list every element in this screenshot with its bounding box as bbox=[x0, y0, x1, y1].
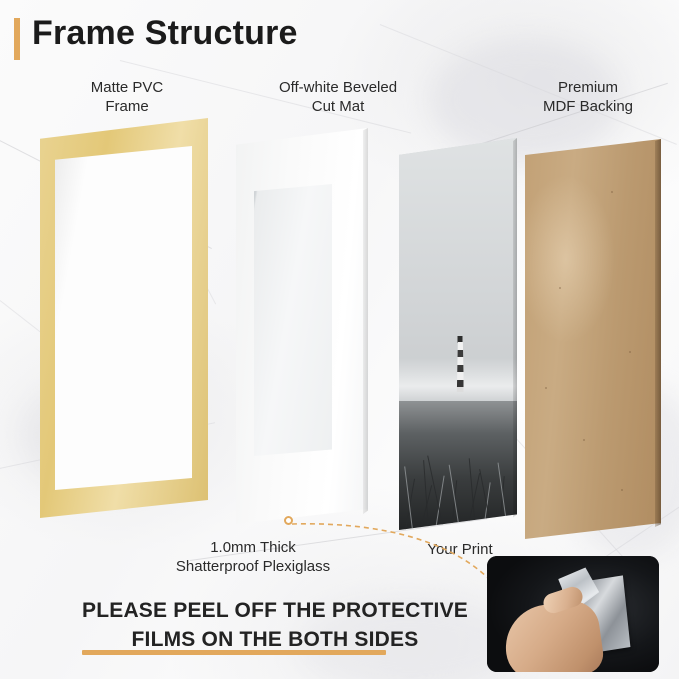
label-plexiglass: 1.0mm Thick Shatterproof Plexiglass bbox=[128, 538, 378, 576]
mdf-fleck bbox=[559, 287, 561, 289]
mdf-fleck bbox=[621, 489, 623, 491]
lighthouse-print-photo bbox=[399, 138, 517, 530]
mdf-backing-layer bbox=[525, 139, 661, 539]
mdf-backing-edge bbox=[655, 139, 661, 539]
pvc-frame-layer bbox=[40, 118, 208, 518]
mdf-fleck bbox=[629, 351, 631, 353]
peel-film-banner: PLEASE PEEL OFF THE PROTECTIVE FILMS ON … bbox=[60, 596, 490, 654]
cut-mat-layer bbox=[236, 128, 368, 524]
title-accent-bar bbox=[14, 18, 20, 60]
hand-peeling-film-inset bbox=[487, 556, 659, 672]
mdf-fleck bbox=[545, 387, 547, 389]
print-edge bbox=[513, 138, 517, 530]
label-mat: Off-white Beveled Cut Mat bbox=[248, 78, 428, 116]
cut-mat-edge bbox=[363, 128, 368, 524]
print-layer bbox=[399, 138, 517, 530]
page-title: Frame Structure bbox=[32, 14, 298, 53]
lighthouse-tower bbox=[457, 342, 464, 392]
banner-underline bbox=[82, 650, 386, 655]
label-backing: Premium MDF Backing bbox=[508, 78, 668, 116]
print-dunes bbox=[399, 401, 517, 530]
mdf-fleck bbox=[611, 191, 613, 193]
cut-mat-bevel bbox=[254, 184, 332, 456]
plexiglass-callout-dot bbox=[284, 516, 293, 525]
frame-opening-shading bbox=[55, 146, 192, 490]
pvc-frame-opening bbox=[55, 146, 192, 490]
product-infographic: Frame Structure Matte PVC Frame Off-whit… bbox=[0, 0, 679, 679]
mdf-backing-board bbox=[525, 139, 661, 539]
lighthouse-icon bbox=[455, 334, 466, 396]
label-frame: Matte PVC Frame bbox=[52, 78, 202, 116]
mdf-fleck bbox=[583, 439, 585, 441]
lighthouse-lantern bbox=[458, 336, 463, 343]
